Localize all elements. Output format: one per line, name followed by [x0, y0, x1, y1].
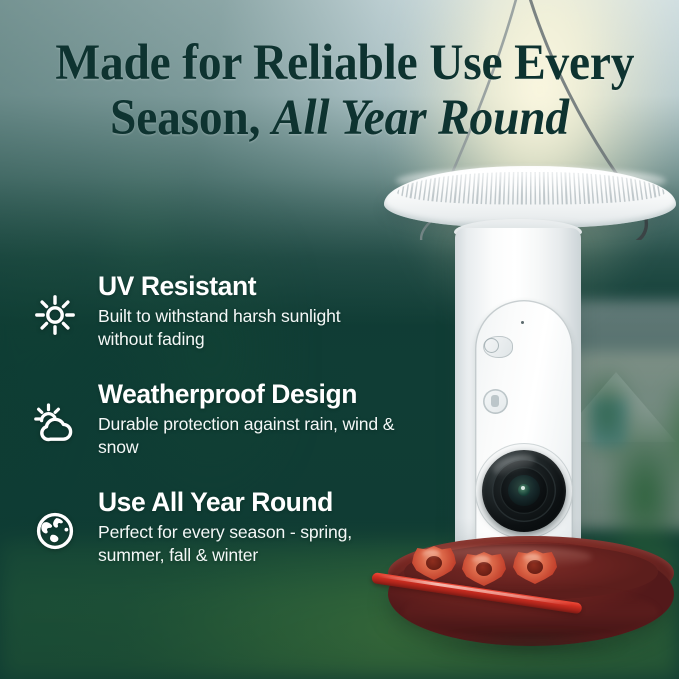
- feature-description: Built to withstand harsh sunlight withou…: [98, 305, 398, 351]
- feature-list: UV Resistant Built to withstand harsh su…: [26, 272, 398, 592]
- headline-line-2-italic: All Year Round: [272, 90, 569, 146]
- globe-icon: [28, 504, 82, 558]
- feature-item-weatherproof-design: Weatherproof Design Durable protection a…: [26, 380, 398, 484]
- page-title: Made for Reliable Use Every Season, All …: [24, 36, 655, 146]
- feature-description: Perfect for every season - spring, summe…: [98, 521, 398, 567]
- feature-description: Durable protection against rain, wind & …: [98, 413, 398, 459]
- feature-item-use-all-year-round: Use All Year Round Perfect for every sea…: [26, 488, 398, 592]
- feature-title: UV Resistant: [98, 272, 398, 302]
- headline-line-2-plain: Season,: [110, 90, 272, 146]
- feature-item-uv-resistant: UV Resistant Built to withstand harsh su…: [26, 272, 398, 376]
- headline-line-2: Season, All Year Round: [55, 91, 623, 146]
- feature-title: Weatherproof Design: [98, 380, 398, 410]
- sun-icon: [28, 288, 82, 342]
- headline-line-1: Made for Reliable Use Every: [55, 36, 623, 91]
- product-feature-card: Made for Reliable Use Every Season, All …: [0, 0, 679, 679]
- sun-behind-cloud-icon: [28, 396, 82, 450]
- feature-title: Use All Year Round: [98, 488, 398, 518]
